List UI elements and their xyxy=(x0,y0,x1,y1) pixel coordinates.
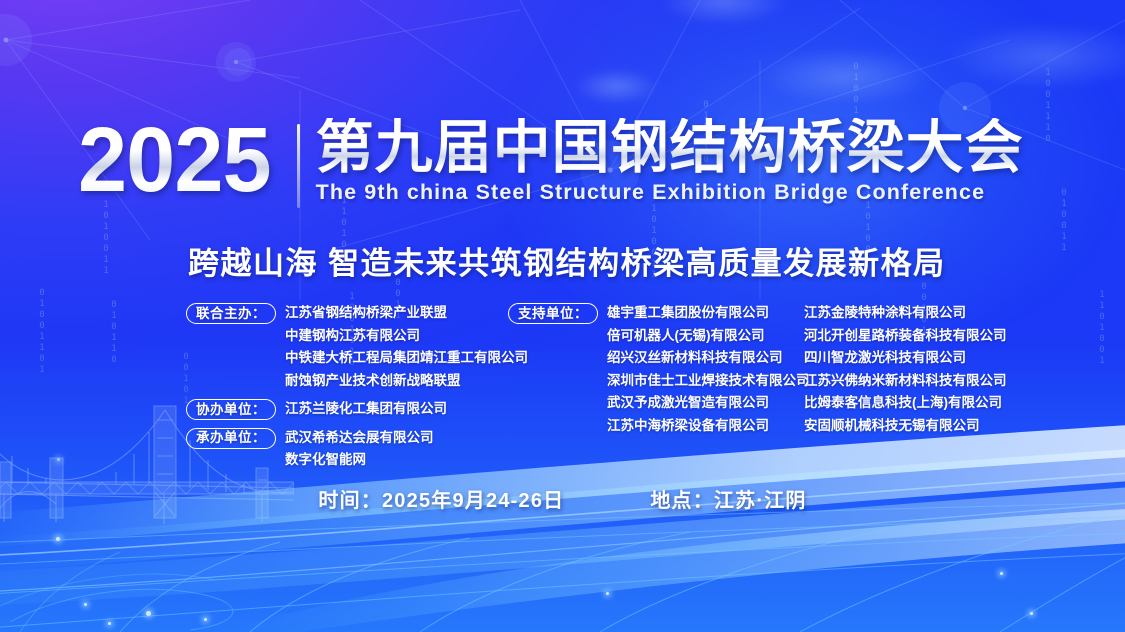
supporters-block: 支持单位： 雄宇重工集团股份有限公司 倍可机器人(无锡)有限公司 绍兴汉丝新材料… xyxy=(508,302,788,437)
banner-content: 2025 第九届中国钢结构桥梁大会 The 9th china Steel St… xyxy=(0,0,1125,632)
list-item: 比姆泰客信息科技(上海)有限公司 xyxy=(804,392,1007,415)
co-hosts-list: 江苏省钢结构桥梁产业联盟 中建钢构江苏有限公司 中铁建大桥工程局集团靖江重工有限… xyxy=(285,302,528,392)
list-item: 中铁建大桥工程局集团靖江重工有限公司 xyxy=(285,347,528,370)
list-item: 江苏省钢结构桥梁产业联盟 xyxy=(285,302,528,325)
organizers-column-2: 支持单位： 雄宇重工集团股份有限公司 倍可机器人(无锡)有限公司 绍兴汉丝新材料… xyxy=(508,302,788,443)
list-item: 绍兴汉丝新材料科技有限公司 xyxy=(607,347,810,370)
organizers-column-3: 江苏金陵特种涂料有限公司 河北开创星路桥装备科技有限公司 四川智龙激光科技有限公… xyxy=(802,302,1068,443)
conference-title-cn: 第九届中国钢结构桥梁大会 xyxy=(316,118,1024,178)
co-organizer-label: 协办单位： xyxy=(186,399,276,420)
event-footer: 时间：2025年9月24-26日 地点：江苏·江阴 xyxy=(0,484,1125,513)
list-item: 江苏中海桥梁设备有限公司 xyxy=(607,415,810,438)
co-hosts-label: 联合主办： xyxy=(186,303,276,324)
supporters-extra-block: 江苏金陵特种涂料有限公司 河北开创星路桥装备科技有限公司 四川智龙激光科技有限公… xyxy=(802,302,1068,437)
undertaker-list: 武汉希希达会展有限公司 数字化智能网 xyxy=(285,427,434,472)
list-item: 江苏兴佛纳米新材料科技有限公司 xyxy=(804,370,1007,393)
event-date: 时间：2025年9月24-26日 xyxy=(318,484,564,513)
co-organizer-list: 江苏兰陵化工集团有限公司 xyxy=(285,398,447,421)
list-item: 雄宇重工集团股份有限公司 xyxy=(607,302,810,325)
co-organizer-block: 协办单位： 江苏兰陵化工集团有限公司 xyxy=(186,398,486,421)
list-item: 中建钢构江苏有限公司 xyxy=(285,325,528,348)
list-item: 河北开创星路桥装备科技有限公司 xyxy=(804,325,1007,348)
undertaker-label: 承办单位： xyxy=(186,428,276,449)
list-item: 深圳市佳士工业焊接技术有限公司 xyxy=(607,370,810,393)
event-location: 地点：江苏·江阴 xyxy=(650,484,806,513)
year-heading: 2025 xyxy=(78,118,271,203)
conference-banner: 01001101 1010011 010110 00101 1101001 10… xyxy=(0,0,1125,632)
list-item: 四川智龙激光科技有限公司 xyxy=(804,347,1007,370)
supporters-label: 支持单位： xyxy=(508,303,598,324)
organizers-column-1: 联合主办： 江苏省钢结构桥梁产业联盟 中建钢构江苏有限公司 中铁建大桥工程局集团… xyxy=(186,302,486,478)
undertaker-block: 承办单位： 武汉希希达会展有限公司 数字化智能网 xyxy=(186,427,486,472)
list-item: 耐蚀钢产业技术创新战略联盟 xyxy=(285,370,528,393)
conference-title-en: The 9th china Steel Structure Exhibition… xyxy=(316,180,1024,205)
list-item: 数字化智能网 xyxy=(285,449,434,472)
list-item: 武汉予成激光智造有限公司 xyxy=(607,392,810,415)
list-item: 江苏兰陵化工集团有限公司 xyxy=(285,398,447,421)
conference-slogan: 跨越山海 智造未来共筑钢结构桥梁高质量发展新格局 xyxy=(188,238,946,283)
title-divider xyxy=(297,124,300,208)
list-item: 武汉希希达会展有限公司 xyxy=(285,427,434,450)
supporters-extra-list: 江苏金陵特种涂料有限公司 河北开创星路桥装备科技有限公司 四川智龙激光科技有限公… xyxy=(802,302,1007,437)
supporters-list: 雄宇重工集团股份有限公司 倍可机器人(无锡)有限公司 绍兴汉丝新材料科技有限公司… xyxy=(607,302,810,437)
list-item: 江苏金陵特种涂料有限公司 xyxy=(804,302,1007,325)
title-block: 2025 第九届中国钢结构桥梁大会 The 9th china Steel St… xyxy=(78,118,1024,208)
list-item: 倍可机器人(无锡)有限公司 xyxy=(607,325,810,348)
co-hosts-block: 联合主办： 江苏省钢结构桥梁产业联盟 中建钢构江苏有限公司 中铁建大桥工程局集团… xyxy=(186,302,486,392)
list-item: 安固顺机械科技无锡有限公司 xyxy=(804,415,1007,438)
title-text-stack: 第九届中国钢结构桥梁大会 The 9th china Steel Structu… xyxy=(316,118,1024,205)
